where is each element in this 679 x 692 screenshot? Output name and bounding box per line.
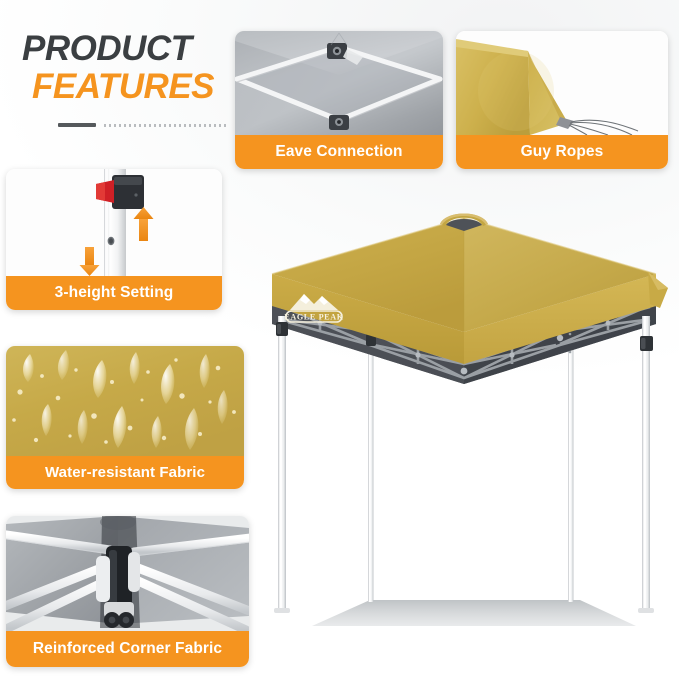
- feature-label-guy-ropes: Guy Ropes: [456, 135, 668, 169]
- canopy-leg-back-left: [368, 320, 374, 602]
- title-divider: [58, 122, 226, 128]
- guy-ropes-photo: [456, 31, 668, 135]
- floor-shadow: [312, 600, 636, 626]
- feature-label-water-resistant: Water-resistant Fabric: [6, 456, 244, 489]
- feature-label-eave-connection: Eave Connection: [235, 135, 443, 169]
- title-line-product: PRODUCT: [22, 32, 237, 66]
- feature-card-height-setting[interactable]: 3-height Setting: [6, 169, 222, 310]
- product-hero-image: EAGLE PEAK: [250, 212, 679, 692]
- canopy-leg-front-left: [274, 316, 290, 613]
- svg-text:EAGLE PEAK: EAGLE PEAK: [284, 312, 343, 321]
- water-beading-photo: [6, 346, 244, 456]
- feature-card-eave-connection[interactable]: Eave Connection: [235, 31, 443, 169]
- feature-card-reinforced-corner[interactable]: Reinforced Corner Fabric: [6, 516, 249, 667]
- divider-dotted-line: [104, 124, 226, 127]
- canopy-leg-back-right: [568, 320, 574, 602]
- corner-bracket-photo: [6, 516, 249, 631]
- page-title: PRODUCT FEATURES: [22, 32, 237, 104]
- divider-solid-dash: [58, 123, 96, 127]
- height-adjust-photo: [6, 169, 222, 276]
- title-line-features: FEATURES: [32, 69, 237, 104]
- feature-card-water-resistant[interactable]: Water-resistant Fabric: [6, 346, 244, 489]
- feature-label-reinforced-corner: Reinforced Corner Fabric: [6, 631, 249, 667]
- feature-label-height-setting: 3-height Setting: [6, 276, 222, 310]
- eave-connection-photo: [235, 31, 443, 135]
- canopy-leg-front-right: [638, 316, 654, 613]
- feature-card-guy-ropes[interactable]: Guy Ropes: [456, 31, 668, 169]
